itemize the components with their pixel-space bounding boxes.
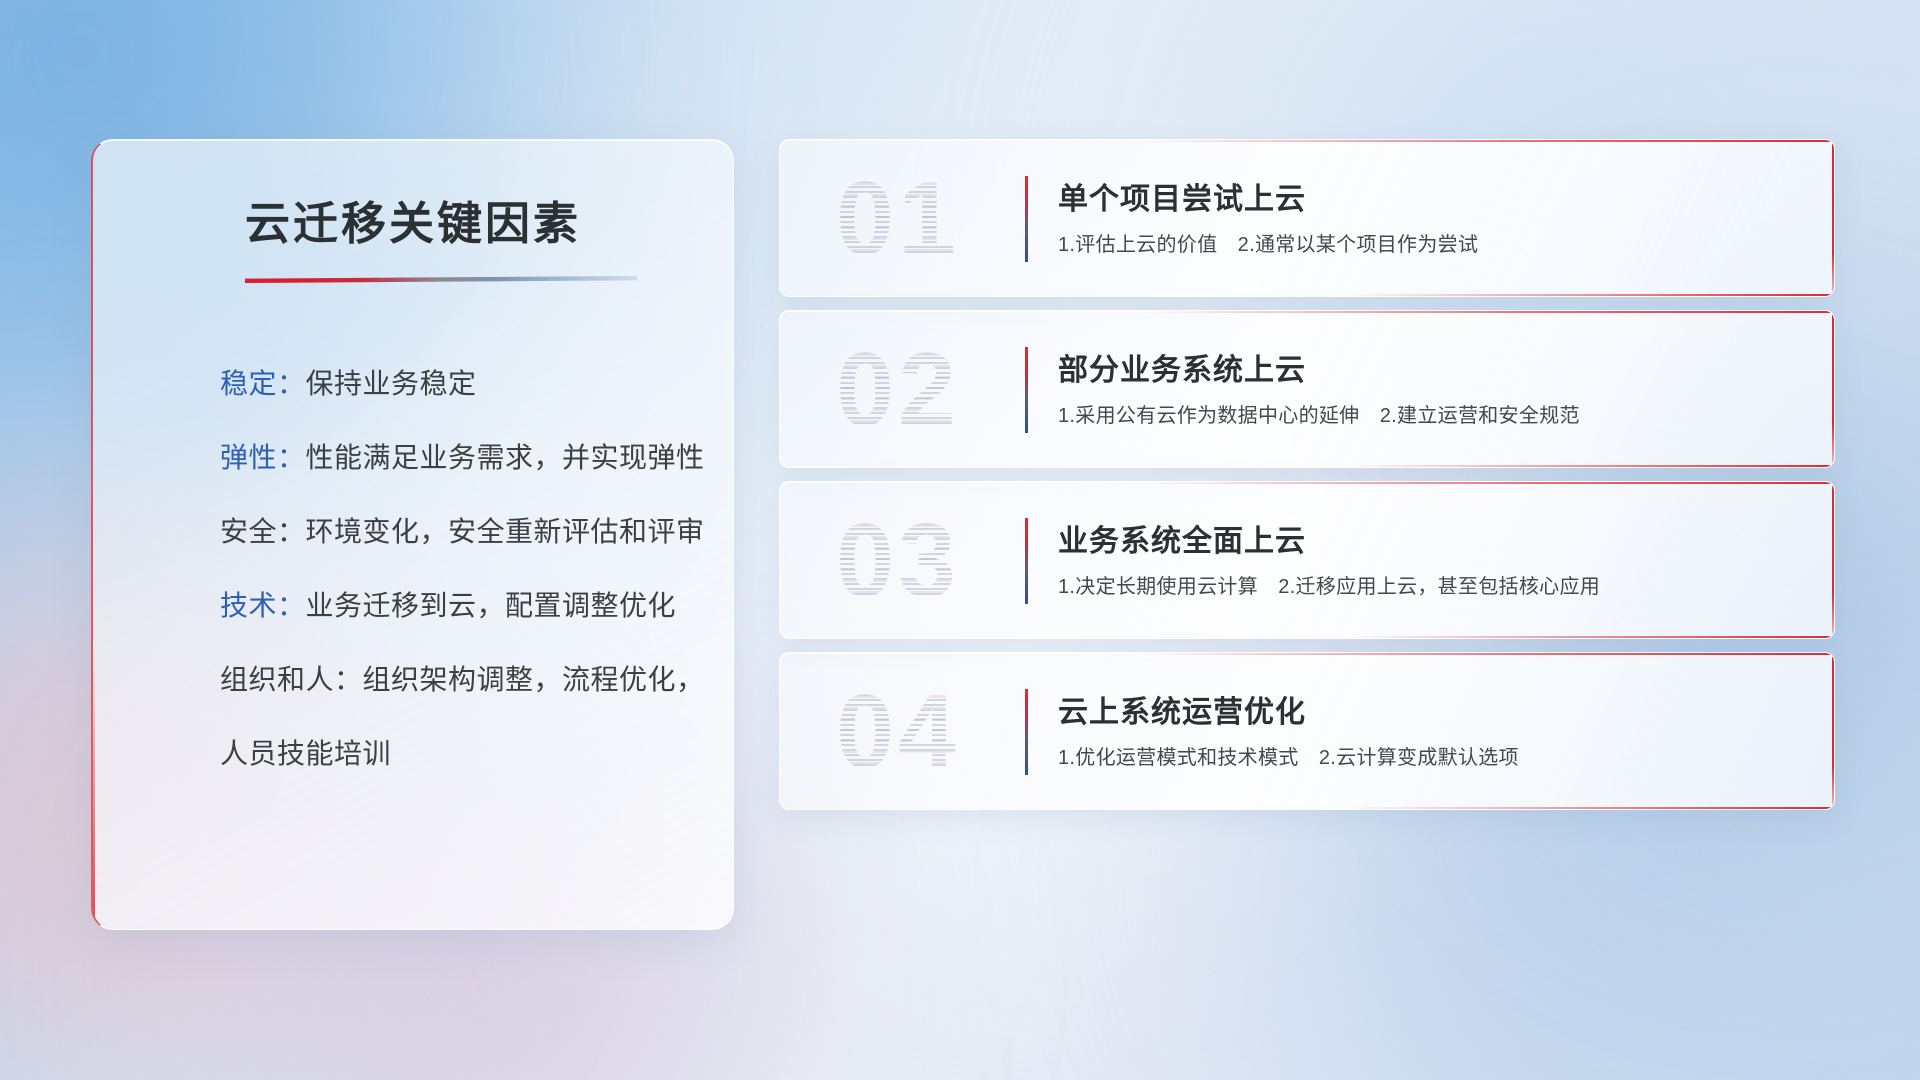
stage-card-03[interactable]: 0303业务系统全面上云1.决定长期使用云计算 2.迁移应用上云，甚至包括核心应… <box>779 481 1835 639</box>
key-factor-item: 弹性：性能满足业务需求，并实现弹性 <box>220 444 693 472</box>
stage-card-04[interactable]: 0404云上系统运营优化1.优化运营模式和技术模式 2.云计算变成默认选项 <box>779 652 1835 810</box>
card-title: 业务系统全面上云 <box>1058 516 1306 560</box>
key-factor-item: 安全：环境变化，安全重新评估和评审 <box>220 518 693 546</box>
card-accent-top <box>1138 482 1834 484</box>
card-number-watermark-tint: 02 <box>808 327 988 453</box>
card-accent-right <box>1832 653 1834 809</box>
slide-stage: 云迁移关键因素 稳定：保持业务稳定弹性：性能满足业务需求，并实现弹性安全：环境变… <box>0 0 1920 1080</box>
card-subtitle: 1.采用公有云作为数据中心的延伸 2.建立运营和安全规范 <box>1058 399 1580 428</box>
card-title: 单个项目尝试上云 <box>1058 174 1306 218</box>
page-title: 云迁移关键因素 <box>93 187 733 252</box>
card-subtitle: 1.评估上云的价值 2.通常以某个项目作为尝试 <box>1058 228 1478 257</box>
key-factor-item: 稳定：保持业务稳定 <box>220 370 693 398</box>
card-number-watermark-tint: 03 <box>808 498 988 624</box>
card-accent-bottom <box>1349 636 1834 638</box>
card-accent-right <box>1832 311 1834 467</box>
card-number-watermark-tint: 04 <box>808 669 988 795</box>
card-accent-bottom <box>1349 465 1834 467</box>
key-factor-text: 组织架构调整，流程优化， <box>363 664 705 695</box>
card-divider <box>1025 518 1028 604</box>
card-accent-right <box>1832 482 1834 638</box>
card-subtitle: 1.决定长期使用云计算 2.迁移应用上云，甚至包括核心应用 <box>1058 570 1600 599</box>
card-divider <box>1025 176 1028 262</box>
card-accent-bottom <box>1349 294 1834 296</box>
key-factor-label: 稳定： <box>220 368 306 399</box>
key-factor-text: 业务迁移到云，配置调整优化 <box>306 590 677 621</box>
key-factor-label: 弹性： <box>220 442 306 473</box>
card-title: 云上系统运营优化 <box>1058 687 1306 731</box>
card-accent-right <box>1832 140 1834 296</box>
key-factor-item: 技术：业务迁移到云，配置调整优化 <box>220 592 693 620</box>
key-factor-item: 组织和人：组织架构调整，流程优化， <box>220 666 693 694</box>
card-number-watermark-tint: 01 <box>808 156 988 282</box>
stage-card-02[interactable]: 0202部分业务系统上云1.采用公有云作为数据中心的延伸 2.建立运营和安全规范 <box>779 310 1835 468</box>
key-factor-text: 性能满足业务需求，并实现弹性 <box>306 442 705 473</box>
key-factor-item: 人员技能培训 <box>220 740 693 768</box>
key-factor-label: 技术： <box>220 590 306 621</box>
key-factor-text: 环境变化，安全重新评估和评审 <box>306 516 705 547</box>
card-accent-top <box>1138 140 1834 142</box>
key-factor-text: 保持业务稳定 <box>306 368 477 399</box>
key-factors-panel: 云迁移关键因素 稳定：保持业务稳定弹性：性能满足业务需求，并实现弹性安全：环境变… <box>91 139 734 930</box>
card-accent-top <box>1138 653 1834 655</box>
card-title: 部分业务系统上云 <box>1058 345 1306 389</box>
card-divider <box>1025 689 1028 775</box>
card-subtitle: 1.优化运营模式和技术模式 2.云计算变成默认选项 <box>1058 741 1519 770</box>
key-factors-list: 稳定：保持业务稳定弹性：性能满足业务需求，并实现弹性安全：环境变化，安全重新评估… <box>220 370 693 768</box>
title-underline-accent <box>245 276 637 283</box>
card-accent-top <box>1138 311 1834 313</box>
card-accent-bottom <box>1349 807 1834 809</box>
stage-card-01[interactable]: 0101单个项目尝试上云1.评估上云的价值 2.通常以某个项目作为尝试 <box>779 139 1835 297</box>
key-factor-text: 人员技能培训 <box>220 738 391 769</box>
key-factor-label: 组织和人： <box>220 664 363 695</box>
key-factor-label: 安全： <box>220 516 306 547</box>
card-divider <box>1025 347 1028 433</box>
